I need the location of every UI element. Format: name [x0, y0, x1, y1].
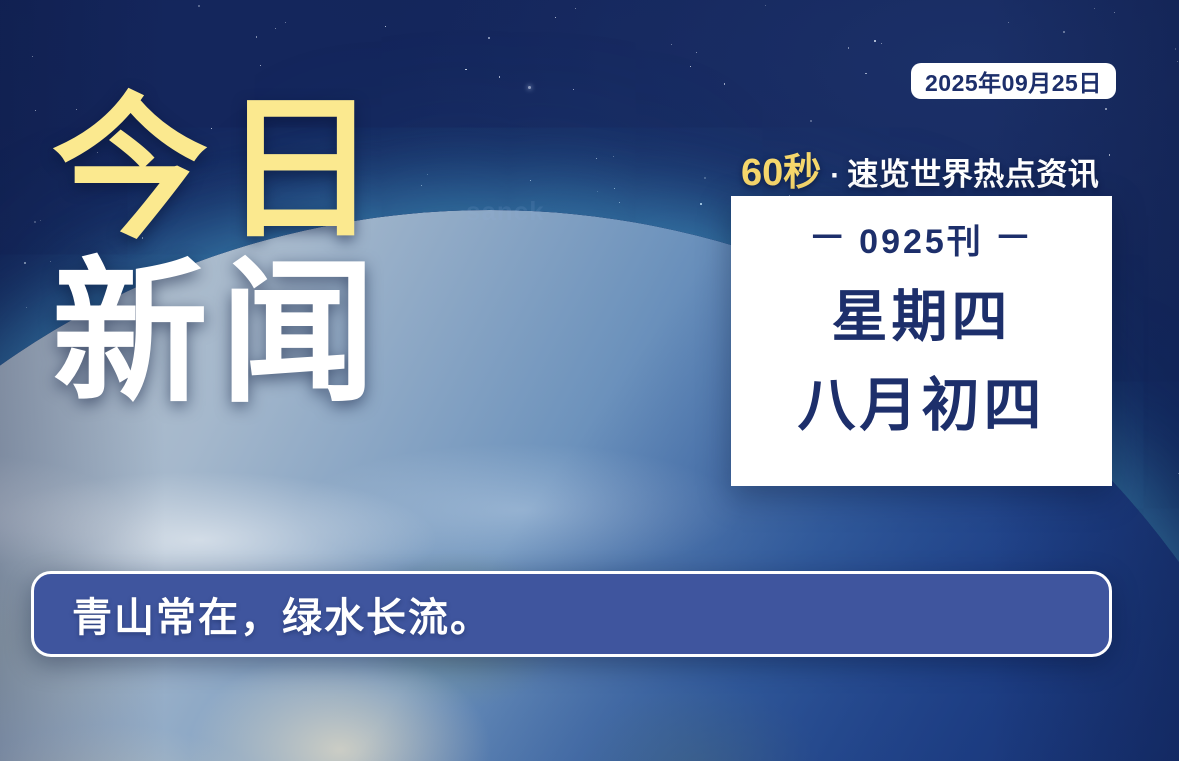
date-badge: 2025年09月25日 — [911, 63, 1116, 99]
watermark-text: sanck — [466, 196, 545, 227]
issue-number: 0925刊 — [859, 214, 984, 263]
page-title: 今日 新闻 — [52, 96, 392, 410]
tagline-separator: · — [830, 159, 840, 193]
quote-text: 青山常在，绿水长流。 — [72, 585, 492, 643]
weekday-label: 星期四 — [832, 289, 1012, 345]
quote-banner: 青山常在，绿水长流。 — [31, 571, 1112, 657]
issue-row: 一 0925刊 一 — [812, 214, 1031, 263]
tagline: 60秒 · 速览世界热点资讯 — [741, 141, 1099, 196]
lunar-date-label: 八月初四 — [797, 377, 1045, 435]
info-card: 一 0925刊 一 星期四 八月初四 — [731, 196, 1112, 486]
page-title-line-1: 今日 — [52, 96, 392, 246]
tagline-seconds: 60秒 — [741, 141, 821, 196]
date-badge-label: 2025年09月25日 — [925, 64, 1102, 98]
tagline-description: 速览世界热点资讯 — [847, 149, 1099, 194]
news-poster: sanck 2025年09月25日 今日 新闻 60秒 · 速览世界热点资讯 一… — [0, 0, 1179, 761]
issue-dash-left: 一 — [812, 224, 845, 254]
issue-dash-right: 一 — [998, 224, 1031, 254]
page-title-line-2: 新闻 — [52, 260, 392, 410]
